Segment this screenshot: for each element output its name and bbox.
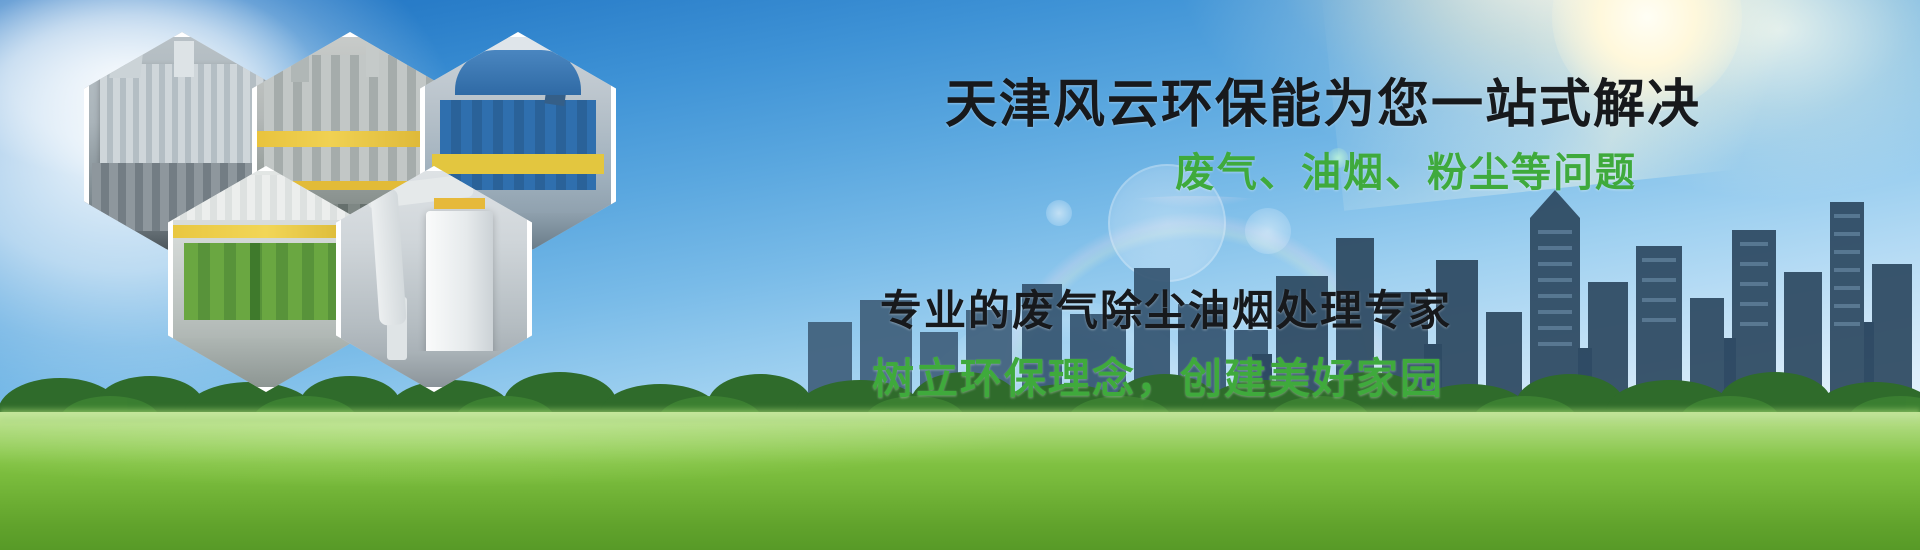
banner-copy: 天津风云环保能为您一站式解决 废气、油烟、粉尘等问题 专业的废气除尘油烟处理专家…	[0, 0, 1920, 550]
headline-primary: 天津风云环保能为您一站式解决	[945, 62, 1701, 137]
hero-banner: 天津风云环保能为您一站式解决 废气、油烟、粉尘等问题 专业的废气除尘油烟处理专家…	[0, 0, 1920, 550]
headline-secondary: 专业的废气除尘油烟处理专家	[880, 277, 1452, 338]
headline-secondary-accent: 树立环保理念，创建美好家园	[872, 345, 1444, 406]
headline-primary-accent: 废气、油烟、粉尘等问题	[1175, 140, 1637, 198]
